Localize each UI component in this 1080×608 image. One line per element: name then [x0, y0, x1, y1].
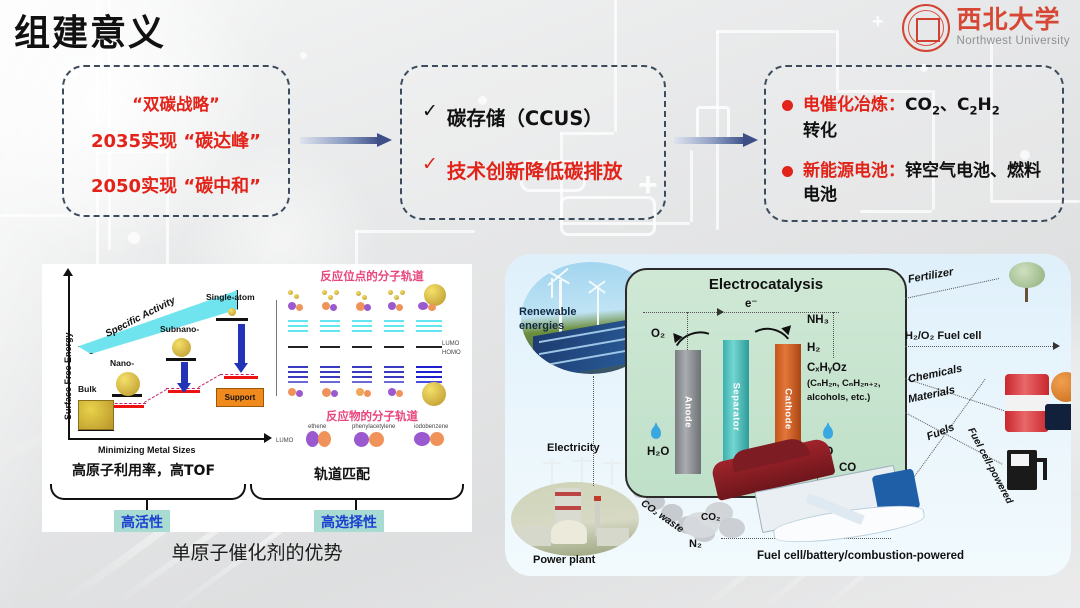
basketball-icon [1051, 372, 1071, 402]
approach-item-1-label: 碳存储（CCUS） [447, 102, 603, 131]
left-figure-summary: 高原子利用率，高TOF 高活性 轨道匹配 高选择性 [42, 458, 472, 532]
tag-high-selectivity: 高选择性 [314, 510, 384, 532]
strategy-line-1: “双碳战略” [64, 91, 288, 115]
bottom-caption-fuel-cell-battery: Fuel cell/battery/combustion-powered [757, 550, 964, 562]
tag-high-activity: 高活性 [114, 510, 170, 532]
chart-x-axis-label: Minimizing Metal Sizes [98, 445, 196, 455]
bracket-1 [50, 484, 246, 500]
label-chemicals: Chemicals [907, 363, 963, 386]
flow-box-approach: ✓ 碳存储（CCUS） ✓ 技术创新降低碳排放 [400, 65, 666, 220]
fuel-pump-icon [1007, 450, 1037, 490]
water-drop-icon-right [823, 426, 833, 439]
support-block: Support [216, 388, 264, 407]
logo-name-en: Northwest University [957, 36, 1070, 48]
label-co2-emission: CO₂ [701, 512, 720, 523]
bullet-icon-1 [782, 100, 793, 111]
label-cxhyoz-detail: (CₙH₂ₙ, CₙH₂ₙ₊₂, [807, 378, 881, 389]
step-label-subnano: Subnano- [160, 324, 199, 334]
arrow-right-icon-1 [300, 133, 392, 147]
arrow-right-icon-2 [674, 133, 758, 147]
label-o2: O₂ [651, 328, 665, 340]
left-figure-caption: 单原子催化剂的优势 [42, 538, 472, 565]
orbital-title-top: 反应位点的分子轨道 [274, 268, 470, 284]
water-drop-icon-left [651, 426, 661, 439]
strategy-line-3: 2050实现 “碳中和” [64, 172, 288, 198]
check-icon-1: ✓ [422, 102, 438, 121]
left-figure-panel: Surface Free Energy Minimizing Metal Siz… [42, 264, 472, 532]
electrode-cathode-label: Cathode [783, 388, 794, 430]
university-seal-icon [902, 4, 950, 52]
label-renewable-energies-line2: energies [519, 320, 564, 332]
band-label-homo: HOMO [442, 350, 461, 356]
label-electron: e⁻ [745, 296, 757, 310]
logo-name-cn: 西北大学 [957, 8, 1070, 33]
application-item-1-formula: CO2、C2H2 [905, 95, 1000, 115]
right-figure-panel: Renewable energies Electricity Power pla… [505, 254, 1071, 576]
label-cxhyoz: CₓHᵧOz [807, 362, 847, 374]
electrocatalysis-title: Electrocatalysis [627, 276, 905, 293]
power-plant-photo [511, 482, 639, 556]
molecular-orbital-diagram: 反应位点的分子轨道 反应物的分子轨道 [274, 268, 470, 458]
bracket-2 [250, 484, 464, 500]
surface-free-energy-chart: Surface Free Energy Minimizing Metal Siz… [50, 270, 272, 452]
label-electricity: Electricity [547, 442, 600, 454]
electrode-anode-label: Anode [683, 396, 694, 428]
application-item-2: 新能源电池：锌空气电池、燃料电池 [782, 159, 1054, 207]
strategy-line-2: 2035实现 “碳达峰” [64, 127, 288, 153]
phone-icon [1045, 404, 1071, 430]
orbital-col-iodobenzene: iodobenzene [414, 424, 448, 430]
approach-item-2-label: 技术创新降低碳排放 [447, 155, 623, 184]
approach-item-2: ✓ 技术创新降低碳排放 [422, 155, 622, 184]
orbital-col-ethene: ethene [308, 424, 326, 430]
application-item-1-text: 电催化冶炼：CO2、C2H2转化 [803, 93, 1000, 143]
label-power-plant: Power plant [533, 554, 595, 566]
bracket-label-1: 高原子利用率，高TOF [72, 460, 215, 480]
step-label-single-atom: Single-atom [206, 292, 255, 302]
label-h2o-left: H₂O [647, 446, 669, 458]
label-cxhyoz-detail2: alcohols, etc.) [807, 392, 870, 403]
chart-y-axis-label: Surface Free Energy [63, 332, 73, 420]
flow-box-applications: 电催化冶炼：CO2、C2H2转化 新能源电池：锌空气电池、燃料电池 [764, 65, 1064, 222]
label-n2-stream: N₂ [689, 538, 702, 550]
approach-item-1: ✓ 碳存储（CCUS） [422, 102, 603, 131]
slide-canvas: + + 组建意义 西北大学 Northwest University “双碳战略… [0, 0, 1080, 608]
tree-icon [1005, 260, 1049, 304]
label-h2-o2-fuel-cell: H₂/O₂ Fuel cell [905, 330, 981, 342]
orbital-row-lumo: LUMO [276, 438, 293, 444]
check-icon-2: ✓ [422, 155, 438, 174]
application-item-2-label: 新能源电池： [803, 161, 905, 181]
barrel-icon [1005, 374, 1049, 432]
label-h2: H₂ [807, 342, 820, 354]
band-label-lumo: LUMO [442, 341, 459, 347]
orbital-title-bottom: 反应物的分子轨道 [274, 408, 470, 424]
label-fertilizer: Fertilizer [907, 266, 954, 286]
step-label-nano: Nano- [110, 358, 134, 368]
flow-box-strategy: “双碳战略” 2035实现 “碳达峰” 2050实现 “碳中和” [62, 65, 290, 217]
university-logo: 西北大学 Northwest University [902, 4, 1070, 52]
application-item-1: 电催化冶炼：CO2、C2H2转化 [782, 93, 1054, 143]
label-renewable-energies-line1: Renewable [519, 306, 576, 318]
orbital-col-phenylacetylene: phenylacetylene [352, 424, 395, 430]
bullet-icon-2 [782, 166, 793, 177]
application-item-1-label: 电催化冶炼： [803, 95, 905, 115]
label-nh3: NH₃ [807, 314, 829, 326]
application-item-2-text: 新能源电池：锌空气电池、燃料电池 [803, 159, 1054, 207]
application-item-1-suffix: 转化 [803, 121, 837, 141]
bracket-label-2: 轨道匹配 [314, 464, 370, 484]
page-title: 组建意义 [14, 4, 166, 56]
electrode-separator-label: Separator [731, 383, 742, 432]
step-label-bulk: Bulk [78, 384, 96, 394]
